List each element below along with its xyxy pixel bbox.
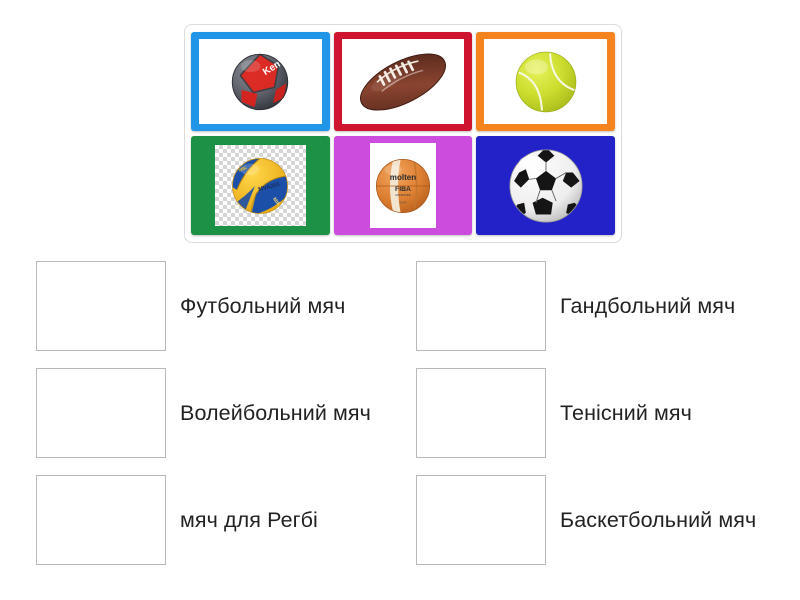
answer-row-soccer: Футбольний мяч [36,261,416,351]
tennis-ball-icon [512,48,580,116]
drop-target-soccer[interactable] [36,261,166,351]
drop-target-basketball[interactable] [416,475,546,565]
drop-target-volleyball[interactable] [36,368,166,458]
drop-target-tennis[interactable] [416,368,546,458]
card-inner: MVA200 MIK MIKASA [215,145,307,226]
drop-target-handball[interactable] [416,261,546,351]
answer-row-tennis: Тенісний мяч [416,368,780,458]
matchup-activity: Kempa [0,0,800,600]
card-inner: Kempa [199,39,322,124]
answer-row-volleyball: Волейбольний мяч [36,368,416,458]
svg-text:FIBA: FIBA [395,185,411,192]
answer-label: Футбольний мяч [180,292,345,321]
volleyball-ball-icon: MVA200 MIK MIKASA [228,154,292,218]
card-inner [484,39,607,124]
answer-row-basketball: Баскетбольний мяч [416,475,780,565]
answer-row-rugby: мяч для Регбі [36,475,416,565]
drop-target-rugby[interactable] [36,475,166,565]
image-card-rugby[interactable] [334,32,473,131]
card-inner [342,39,465,124]
image-card-basketball[interactable]: molten FIBA APPROVED GM7X [334,136,473,235]
handball-ball-icon: Kempa [227,49,293,115]
image-card-handball[interactable]: Kempa [191,32,330,131]
card-inner: molten FIBA APPROVED GM7X [370,143,437,228]
card-inner [476,136,615,235]
image-card-soccer[interactable] [476,136,615,235]
image-card-volleyball[interactable]: MVA200 MIK MIKASA [191,136,330,235]
answer-label: Гандбольний мяч [560,292,735,321]
answer-label: мяч для Регбі [180,506,318,535]
soccer-ball-icon [504,144,588,228]
image-card-tennis[interactable] [476,32,615,131]
answers-grid: Футбольний мяч Гандбольний мяч Волейболь… [36,261,780,565]
svg-text:GM7X: GM7X [399,201,406,204]
image-panel: Kempa [184,24,622,243]
answer-label: Тенісний мяч [560,399,692,428]
answer-row-handball: Гандбольний мяч [416,261,780,351]
rugby-ball-icon [351,51,455,113]
answer-label: Волейбольний мяч [180,399,371,428]
answer-label: Баскетбольний мяч [560,506,756,535]
basketball-ball-icon: molten FIBA APPROVED GM7X [372,155,434,217]
svg-text:APPROVED: APPROVED [395,192,410,196]
